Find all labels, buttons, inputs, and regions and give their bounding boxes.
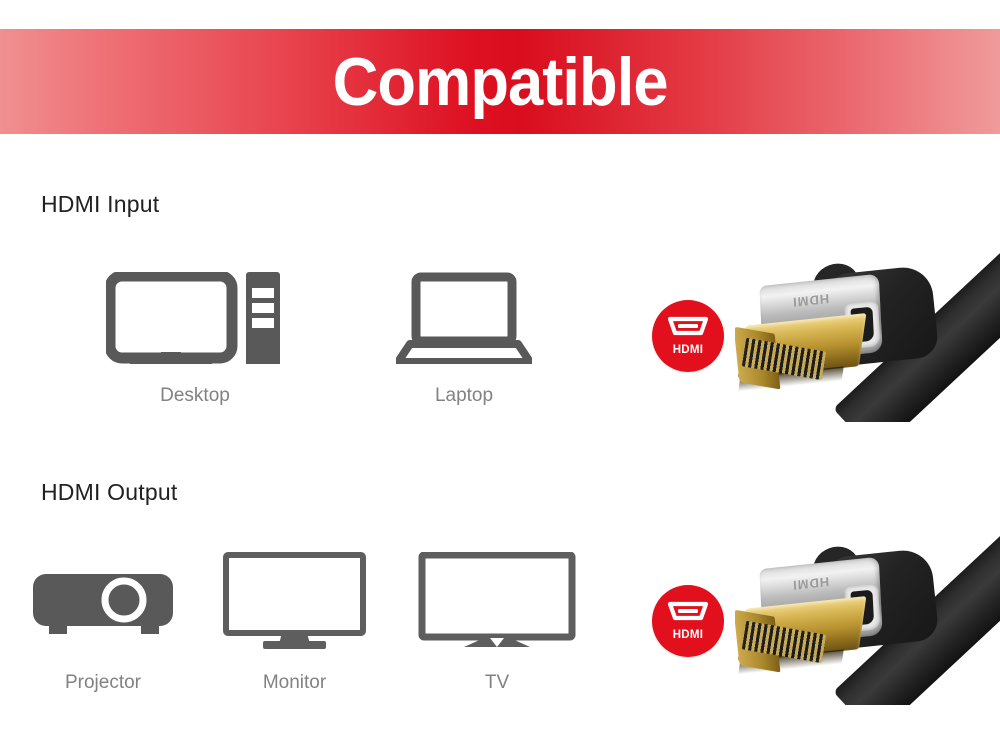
- section-heading-hdmi-output: HDMI Output: [41, 479, 177, 506]
- device-label-projector: Projector: [65, 672, 141, 694]
- hdmi-port-icon: [666, 601, 710, 627]
- infographic-page: Compatible HDMI Input Desktop: [0, 0, 1000, 739]
- hdmi-cable-photo-output: HDMI: [735, 505, 1000, 705]
- device-label-tv: TV: [485, 672, 509, 694]
- device-item-desktop: Desktop: [106, 272, 284, 407]
- device-label-desktop: Desktop: [160, 385, 230, 407]
- hdmi-badge-output: HDMI: [652, 585, 724, 657]
- device-item-monitor: Monitor: [222, 552, 367, 694]
- hdmi-badge-label-input: HDMI: [673, 345, 704, 357]
- connector-brand-text: HDMI: [792, 574, 830, 593]
- hdmi-badge-input: HDMI: [652, 300, 724, 372]
- laptop-icon: [396, 272, 532, 364]
- page-title: Compatible: [332, 48, 667, 116]
- desktop-computer-icon: [106, 272, 284, 364]
- connector-brand-text: HDMI: [792, 291, 830, 310]
- tv-icon: [418, 552, 576, 650]
- device-item-laptop: Laptop: [396, 272, 532, 407]
- projector-icon: [31, 562, 175, 642]
- hdmi-cable-photo-input: HDMI: [735, 222, 1000, 422]
- hdmi-port-icon: [666, 316, 710, 342]
- device-label-monitor: Monitor: [263, 672, 326, 694]
- device-label-laptop: Laptop: [435, 385, 493, 407]
- device-item-projector: Projector: [31, 562, 175, 694]
- device-item-tv: TV: [418, 552, 576, 694]
- section-heading-hdmi-input: HDMI Input: [41, 191, 159, 218]
- monitor-icon: [222, 552, 367, 650]
- hdmi-badge-label-output: HDMI: [673, 630, 704, 642]
- header-banner: Compatible: [0, 29, 1000, 134]
